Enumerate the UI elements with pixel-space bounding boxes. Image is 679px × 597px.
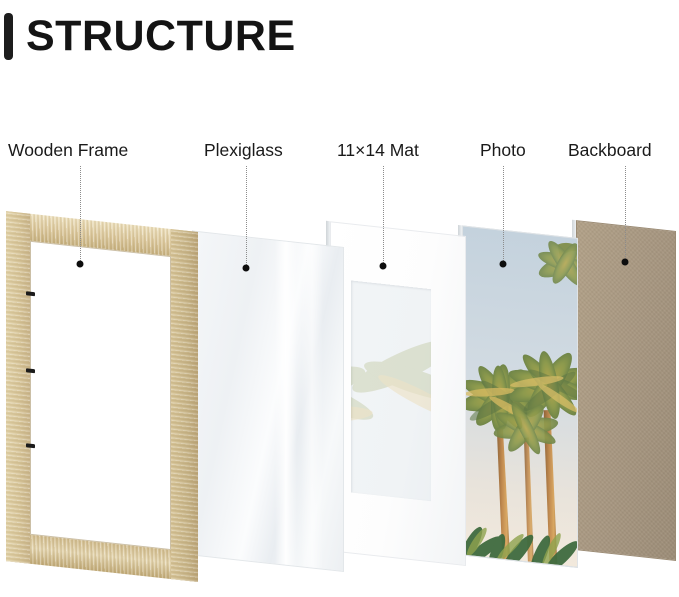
backboard-face (576, 220, 676, 561)
label-backboard: Backboard (568, 142, 652, 160)
callout-dot-wooden-frame (77, 261, 84, 268)
mounting-tab-2 (26, 368, 35, 373)
leader-line-mat (383, 166, 384, 263)
palm-tree-artwork-faint (351, 281, 431, 502)
callout-dot-backboard (622, 259, 629, 266)
mat-window-artwork-preview (351, 281, 431, 502)
plexiglass-face (196, 231, 344, 572)
layer-plexiglass[interactable] (196, 231, 344, 572)
leader-line-plexiglass (246, 166, 247, 265)
wooden-frame-body (6, 211, 198, 582)
callout-dot-mat (380, 263, 387, 270)
frame-opening (30, 241, 171, 550)
layer-mat[interactable] (330, 221, 466, 566)
frame-stile-left (6, 211, 30, 564)
plexiglass-glint-secondary (301, 243, 323, 568)
layer-backboard[interactable] (576, 220, 676, 561)
label-wooden-frame: Wooden Frame (8, 142, 128, 160)
palm-tree-artwork (463, 227, 577, 567)
callout-dot-plexiglass (243, 265, 250, 272)
leader-line-wooden-frame (80, 166, 81, 261)
frame-stile-right (171, 229, 198, 582)
label-photo: Photo (480, 142, 526, 160)
mat-face (330, 221, 466, 566)
exploded-view-stage (0, 0, 679, 597)
layer-photo[interactable] (462, 225, 578, 568)
photo-face (462, 225, 578, 568)
mounting-tab-1 (26, 291, 35, 296)
callout-dot-photo (500, 261, 507, 268)
layer-wooden-frame[interactable] (6, 232, 198, 582)
leader-line-backboard (625, 166, 626, 259)
plexiglass-glint (275, 241, 297, 566)
label-plexiglass: Plexiglass (204, 142, 283, 160)
structure-diagram: STRUCTURE (0, 0, 679, 597)
leader-line-photo (503, 166, 504, 261)
mounting-tab-3 (26, 443, 35, 448)
mat-window-opening (351, 281, 431, 502)
label-mat: 11×14 Mat (337, 142, 419, 160)
